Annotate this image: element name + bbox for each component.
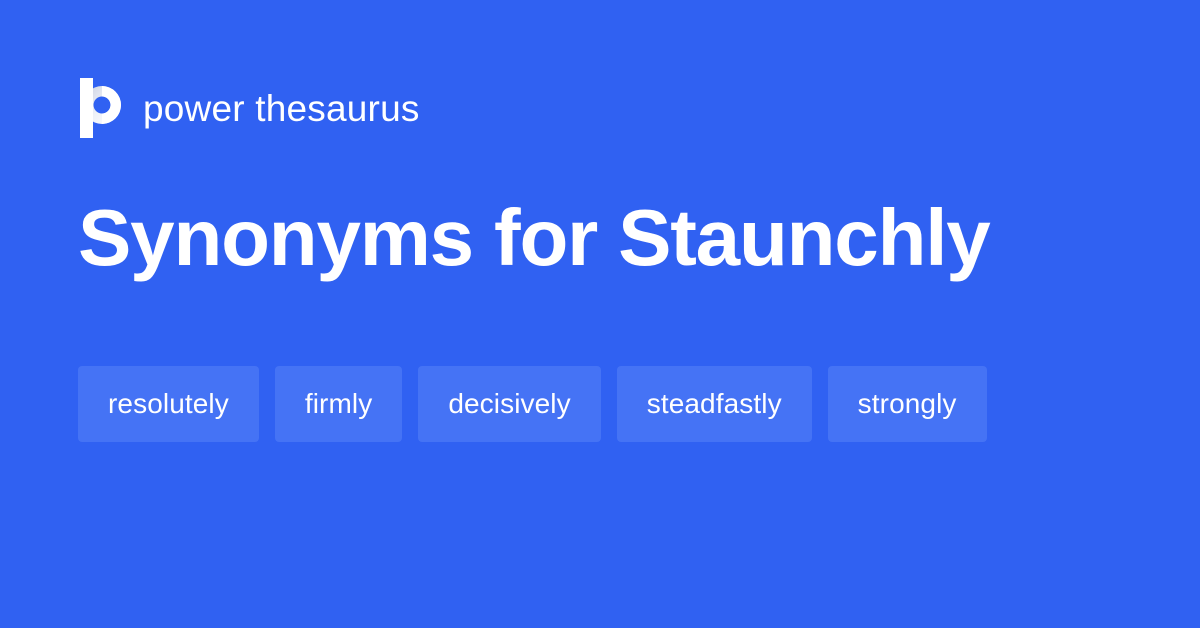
synonym-chip[interactable]: steadfastly <box>617 366 812 442</box>
power-thesaurus-b-logo-icon <box>80 78 124 138</box>
synonym-chip[interactable]: strongly <box>828 366 987 442</box>
synonym-chip[interactable]: resolutely <box>78 366 259 442</box>
brand-lockup[interactable]: power thesaurus <box>80 78 420 138</box>
synonym-chip-list: resolutely firmly decisively steadfastly… <box>78 366 1088 442</box>
page-title: Synonyms for Staunchly <box>78 196 1138 279</box>
synonym-chip[interactable]: firmly <box>275 366 402 442</box>
social-share-card: power thesaurus Synonyms for Staunchly r… <box>0 0 1200 628</box>
brand-name: power thesaurus <box>143 90 420 127</box>
synonym-chip[interactable]: decisively <box>418 366 600 442</box>
